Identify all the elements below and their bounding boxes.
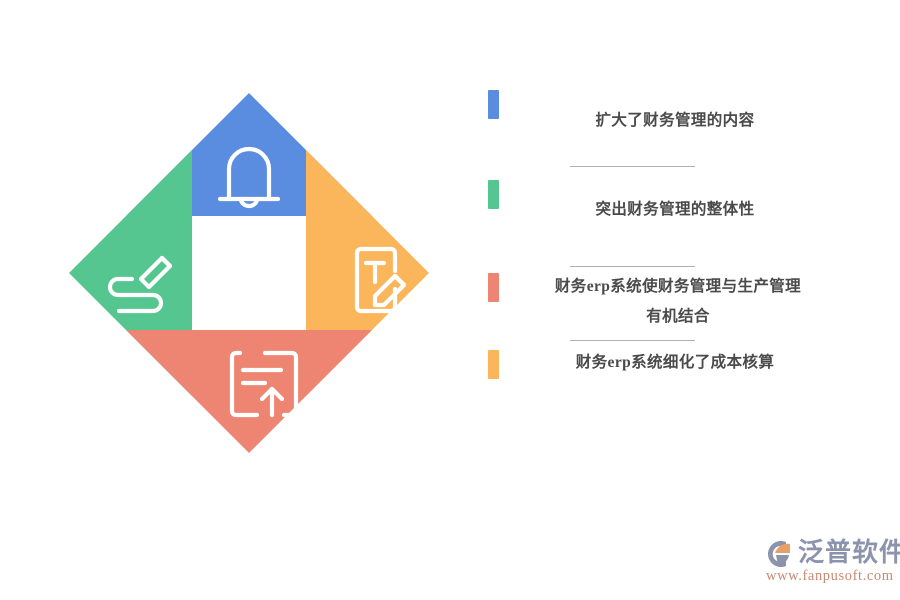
legend-swatch-1 (488, 90, 499, 119)
legend-label-1: 扩大了财务管理的内容 (510, 106, 840, 136)
legend-divider-3 (570, 340, 695, 341)
legend-label-2: 突出财务管理的整体性 (510, 195, 840, 225)
legend-label-3: 财务erp系统使财务管理与生产管理 有机结合 (488, 272, 868, 332)
watermark-url-text: www.fanpusoft.com (766, 568, 894, 585)
legend-label-4: 财务erp系统细化了成本核算 (510, 348, 840, 378)
legend-divider-1 (570, 166, 695, 167)
fanpu-logo-mark-icon (762, 539, 796, 569)
bottom-triangle (126, 330, 372, 453)
diamond-svg (69, 93, 429, 453)
legend-divider-2 (570, 266, 695, 267)
legend-panel: 扩大了财务管理的内容 突出财务管理的整体性 财务erp系统使财务管理与生产管理 … (470, 70, 890, 400)
diamond-quadrant-bottom[interactable] (126, 327, 372, 453)
legend-swatch-4 (488, 350, 499, 379)
diamond-center-square (192, 216, 306, 330)
watermark-logo: 泛普软件 www.fanpusoft.com (762, 536, 894, 592)
diamond-diagram (69, 93, 429, 453)
infographic-canvas: 扩大了财务管理的内容 突出财务管理的整体性 财务erp系统使财务管理与生产管理 … (0, 0, 900, 600)
watermark-brand-text: 泛普软件 (798, 536, 900, 568)
legend-swatch-2 (488, 180, 499, 209)
